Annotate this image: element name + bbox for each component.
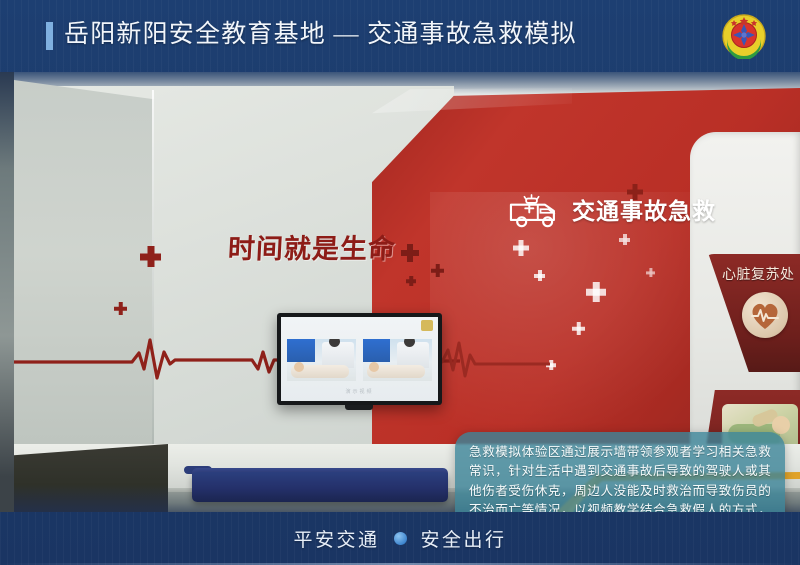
white-cross-decal: [534, 270, 545, 281]
wall-corner-seam: [152, 90, 154, 462]
display-stand: [345, 405, 373, 410]
footer-slogan-left: 平安交通: [293, 525, 379, 552]
page-title: 岳阳新阳安全教育基地 — 交通事故急救模拟: [64, 18, 577, 52]
photo-left-edge: [0, 72, 14, 512]
red-cross-decal: [406, 276, 416, 286]
sign-cpr-label: 心脏复苏处: [722, 264, 795, 284]
traffic-police-emblem-icon: [721, 13, 767, 59]
display-watermark: [421, 320, 433, 331]
cpr-video-left: [287, 339, 356, 381]
description-text: 急救模拟体验区通过展示墙带领参观者学习相关急救常识，针对生活中遇到交通事故后导致…: [469, 443, 771, 512]
cpr-video-right: [363, 339, 432, 381]
white-cross-decal: [513, 240, 529, 256]
display-screen: 演示视频: [281, 317, 438, 401]
red-cross-decal: [140, 246, 161, 267]
description-callout: 急救模拟体验区通过展示墙带领参观者学习相关急救常识，针对生活中遇到交通事故后导致…: [455, 432, 785, 512]
heart-ecg-icon: [742, 292, 788, 338]
red-cross-decal: [401, 244, 419, 262]
white-cross-decal: [586, 282, 606, 302]
page-root: 岳阳新阳安全教育基地 — 交通事故急救模拟: [0, 0, 800, 565]
red-cross-decal: [431, 264, 444, 277]
white-cross-decal: [646, 268, 655, 277]
wall-mounted-display: 演示视频: [277, 313, 442, 405]
red-panel-title: 交通事故急救: [572, 198, 716, 224]
footer-slogan-right: 安全出行: [421, 525, 507, 552]
title-accent-bar: [46, 22, 53, 50]
footer-slogan-group: 平安交通 安全出行: [293, 525, 506, 552]
ambulance-icon: [508, 194, 564, 228]
page-footer: 平安交通 安全出行: [0, 512, 800, 565]
left-wall: [14, 80, 154, 466]
wall-slogan: 时间就是生命: [227, 234, 397, 264]
white-cross-decal: [619, 234, 630, 245]
display-caption-strip: 演示视频: [281, 388, 438, 395]
white-cross-decal: [572, 322, 585, 335]
traffic-police-emblem: [721, 13, 767, 59]
footer-separator-dot: [394, 532, 407, 545]
red-cross-decal: [114, 302, 127, 315]
training-mat: [192, 472, 448, 502]
exhibit-photo: 心脏复苏处 时间就是生命: [0, 72, 800, 512]
red-panel-title-group: 交通事故急救: [508, 194, 716, 228]
page-header: 岳阳新阳安全教育基地 — 交通事故急救模拟: [0, 0, 800, 72]
